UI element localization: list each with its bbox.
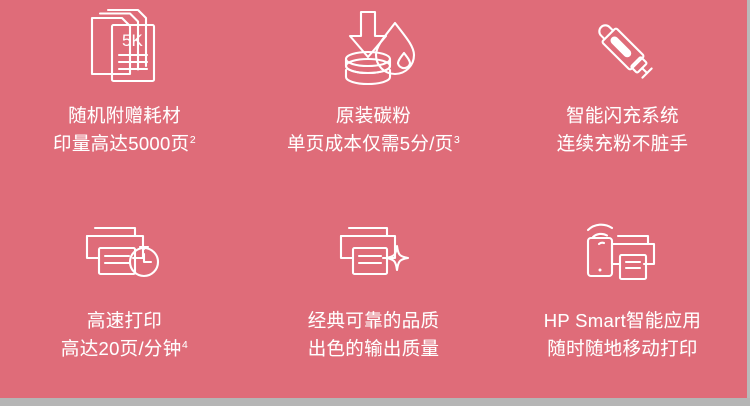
printer-stopwatch-icon xyxy=(70,213,180,293)
feature-line-1: 原装碳粉 xyxy=(287,102,460,130)
feature-line-2: 印量高达5000页2 xyxy=(53,130,196,158)
feature-text-toner: 原装碳粉 单页成本仅需5分/页3 xyxy=(287,102,460,158)
feature-line-2: 高达20页/分钟4 xyxy=(61,335,188,363)
feature-text-quality: 经典可靠的品质 出色的输出质量 xyxy=(308,307,440,363)
promo-banner: 5K 随机附赠耗材 印量高达5000页2 xyxy=(0,0,750,406)
feature-line-2: 随时随地移动打印 xyxy=(544,335,701,363)
feature-cell-quality: 经典可靠的品质 出色的输出质量 xyxy=(249,199,498,398)
feature-cell-toner: 原装碳粉 单页成本仅需5分/页3 xyxy=(249,0,498,199)
feature-line-2: 连续充粉不脏手 xyxy=(557,130,689,158)
feature-line-2: 出色的输出质量 xyxy=(308,335,440,363)
document-stack-5k-icon: 5K xyxy=(70,6,180,92)
feature-cell-supplies: 5K 随机附赠耗材 印量高达5000页2 xyxy=(0,0,249,199)
phone-wifi-printer-icon xyxy=(568,213,678,293)
feature-cell-speed: 高速打印 高达20页/分钟4 xyxy=(0,199,249,398)
feature-text-refill: 智能闪充系统 连续充粉不脏手 xyxy=(557,102,689,158)
printer-sparkle-icon xyxy=(319,213,429,293)
feature-text-hp-smart: HP Smart智能应用 随时随地移动打印 xyxy=(544,307,701,363)
feature-cell-hp-smart: HP Smart智能应用 随时随地移动打印 xyxy=(498,199,747,398)
feature-text-supplies: 随机附赠耗材 印量高达5000页2 xyxy=(53,102,196,158)
feature-line-1: HP Smart智能应用 xyxy=(544,307,701,335)
feature-line-1: 随机附赠耗材 xyxy=(53,102,196,130)
toner-drop-coins-icon xyxy=(319,6,429,92)
feature-line-1: 经典可靠的品质 xyxy=(308,307,440,335)
syringe-refill-icon xyxy=(568,6,678,92)
feature-text-speed: 高速打印 高达20页/分钟4 xyxy=(61,307,188,363)
feature-grid: 5K 随机附赠耗材 印量高达5000页2 xyxy=(0,0,747,398)
footnote-marker: 3 xyxy=(454,135,460,146)
bottom-edge-strip xyxy=(0,398,750,406)
footnote-marker: 2 xyxy=(190,135,196,146)
feature-cell-refill: 智能闪充系统 连续充粉不脏手 xyxy=(498,0,747,199)
footnote-marker: 4 xyxy=(182,340,188,351)
feature-line-2: 单页成本仅需5分/页3 xyxy=(287,130,460,158)
feature-line-1: 高速打印 xyxy=(61,307,188,335)
feature-line-1: 智能闪充系统 xyxy=(557,102,689,130)
svg-text:5K: 5K xyxy=(122,31,143,50)
